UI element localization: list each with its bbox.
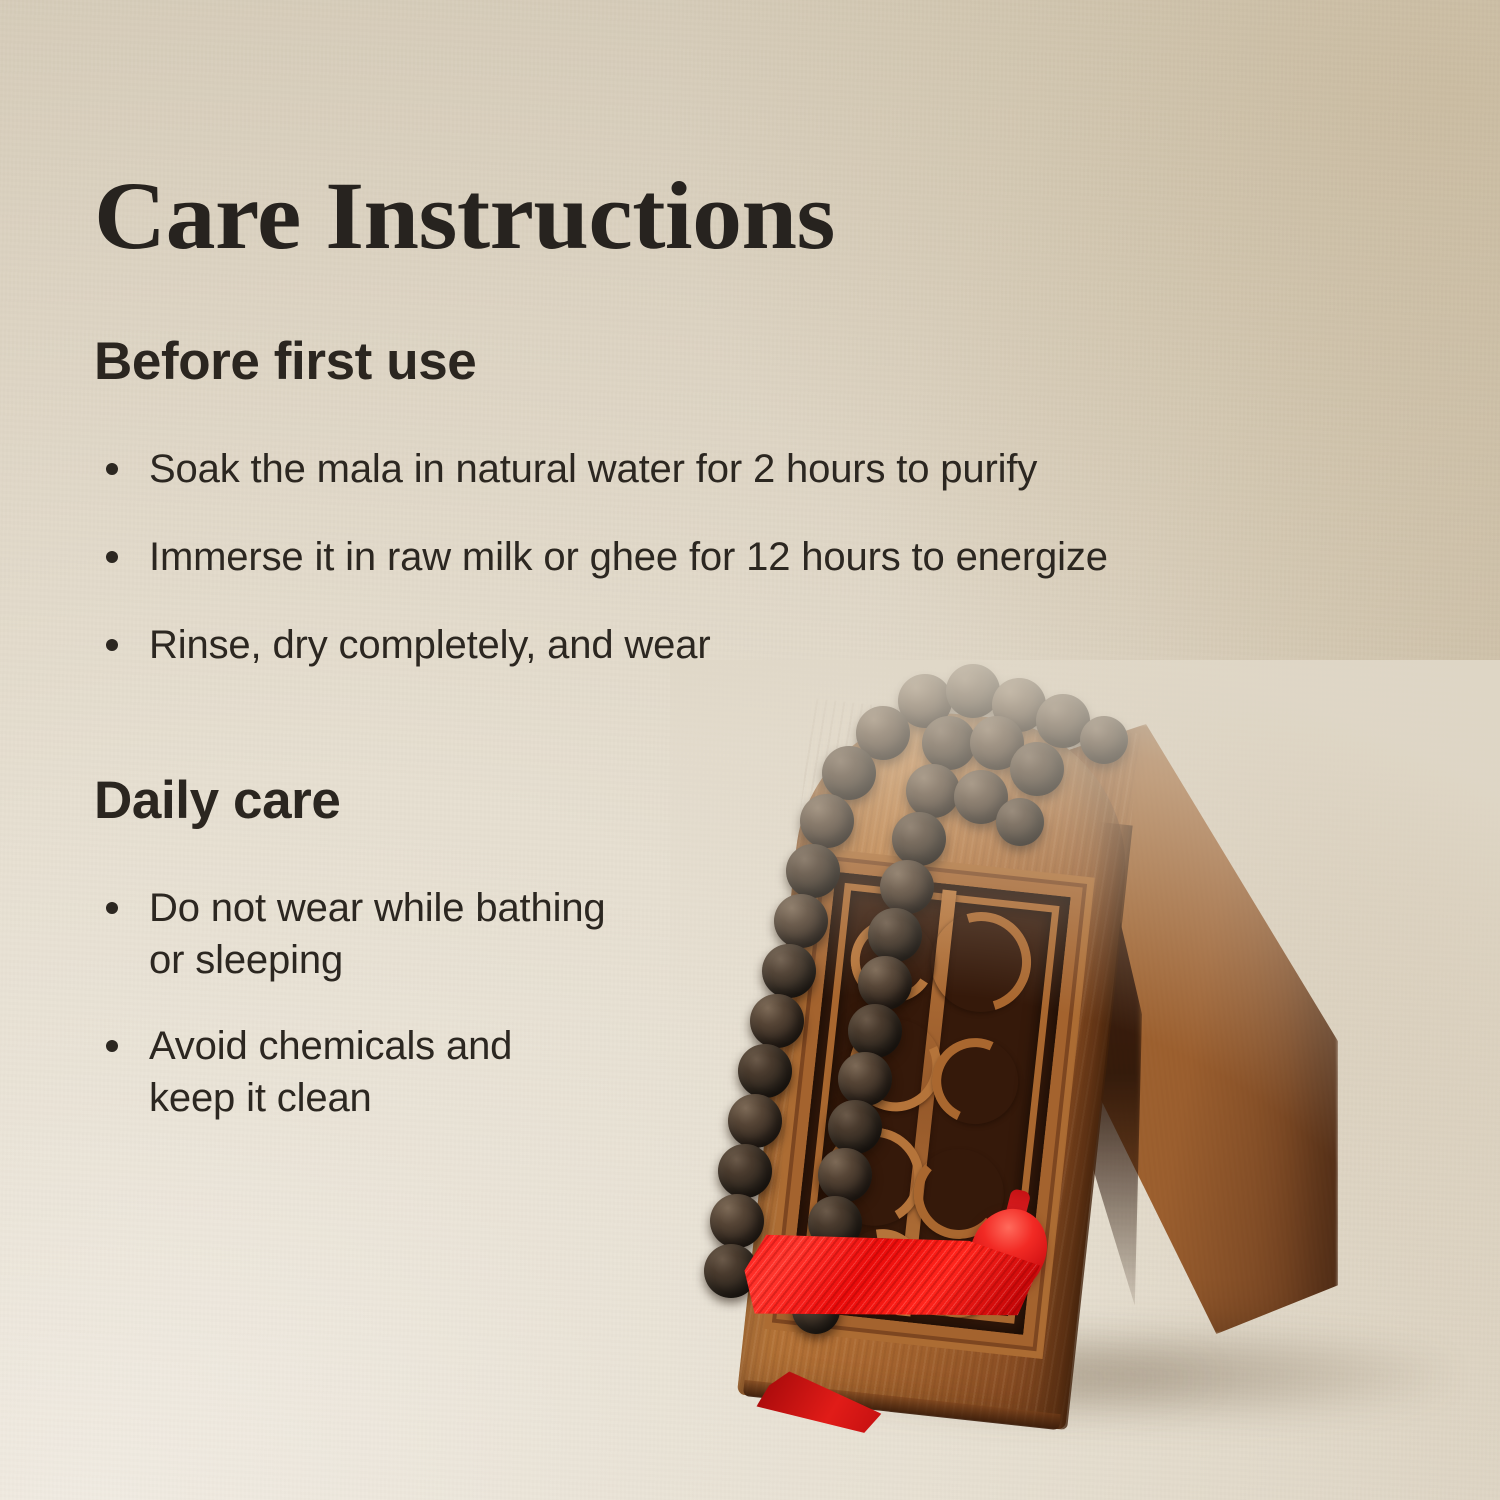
section-before-first-use: Before first use Soak the mala in natura…: [94, 333, 1108, 671]
list-item: Soak the mala in natural water for 2 hou…: [94, 443, 1108, 495]
list-item-text: Rinse, dry completely, and wear: [149, 619, 1108, 671]
bullet-list: Do not wear while bathing or sleeping Av…: [94, 882, 606, 1124]
list-item-text: Immerse it in raw milk or ghee for 12 ho…: [149, 531, 1108, 583]
list-item-text: Do not wear while bathing or sleeping: [149, 882, 606, 986]
list-item: Avoid chemicals and keep it clean: [94, 1020, 606, 1124]
list-item: Immerse it in raw milk or ghee for 12 ho…: [94, 531, 1108, 583]
section-heading: Before first use: [94, 333, 1108, 390]
section-heading: Daily care: [94, 772, 606, 829]
list-item-text: Avoid chemicals and keep it clean: [149, 1020, 606, 1124]
text-content: Care Instructions Before first use Soak …: [0, 0, 1500, 1500]
list-item: Rinse, dry completely, and wear: [94, 619, 1108, 671]
care-instructions-page: Care Instructions Before first use Soak …: [0, 0, 1500, 1500]
bullet-list: Soak the mala in natural water for 2 hou…: [94, 443, 1108, 671]
list-item: Do not wear while bathing or sleeping: [94, 882, 606, 986]
section-daily-care: Daily care Do not wear while bathing or …: [94, 772, 606, 1124]
list-item-text: Soak the mala in natural water for 2 hou…: [149, 443, 1108, 495]
page-title: Care Instructions: [94, 168, 835, 264]
